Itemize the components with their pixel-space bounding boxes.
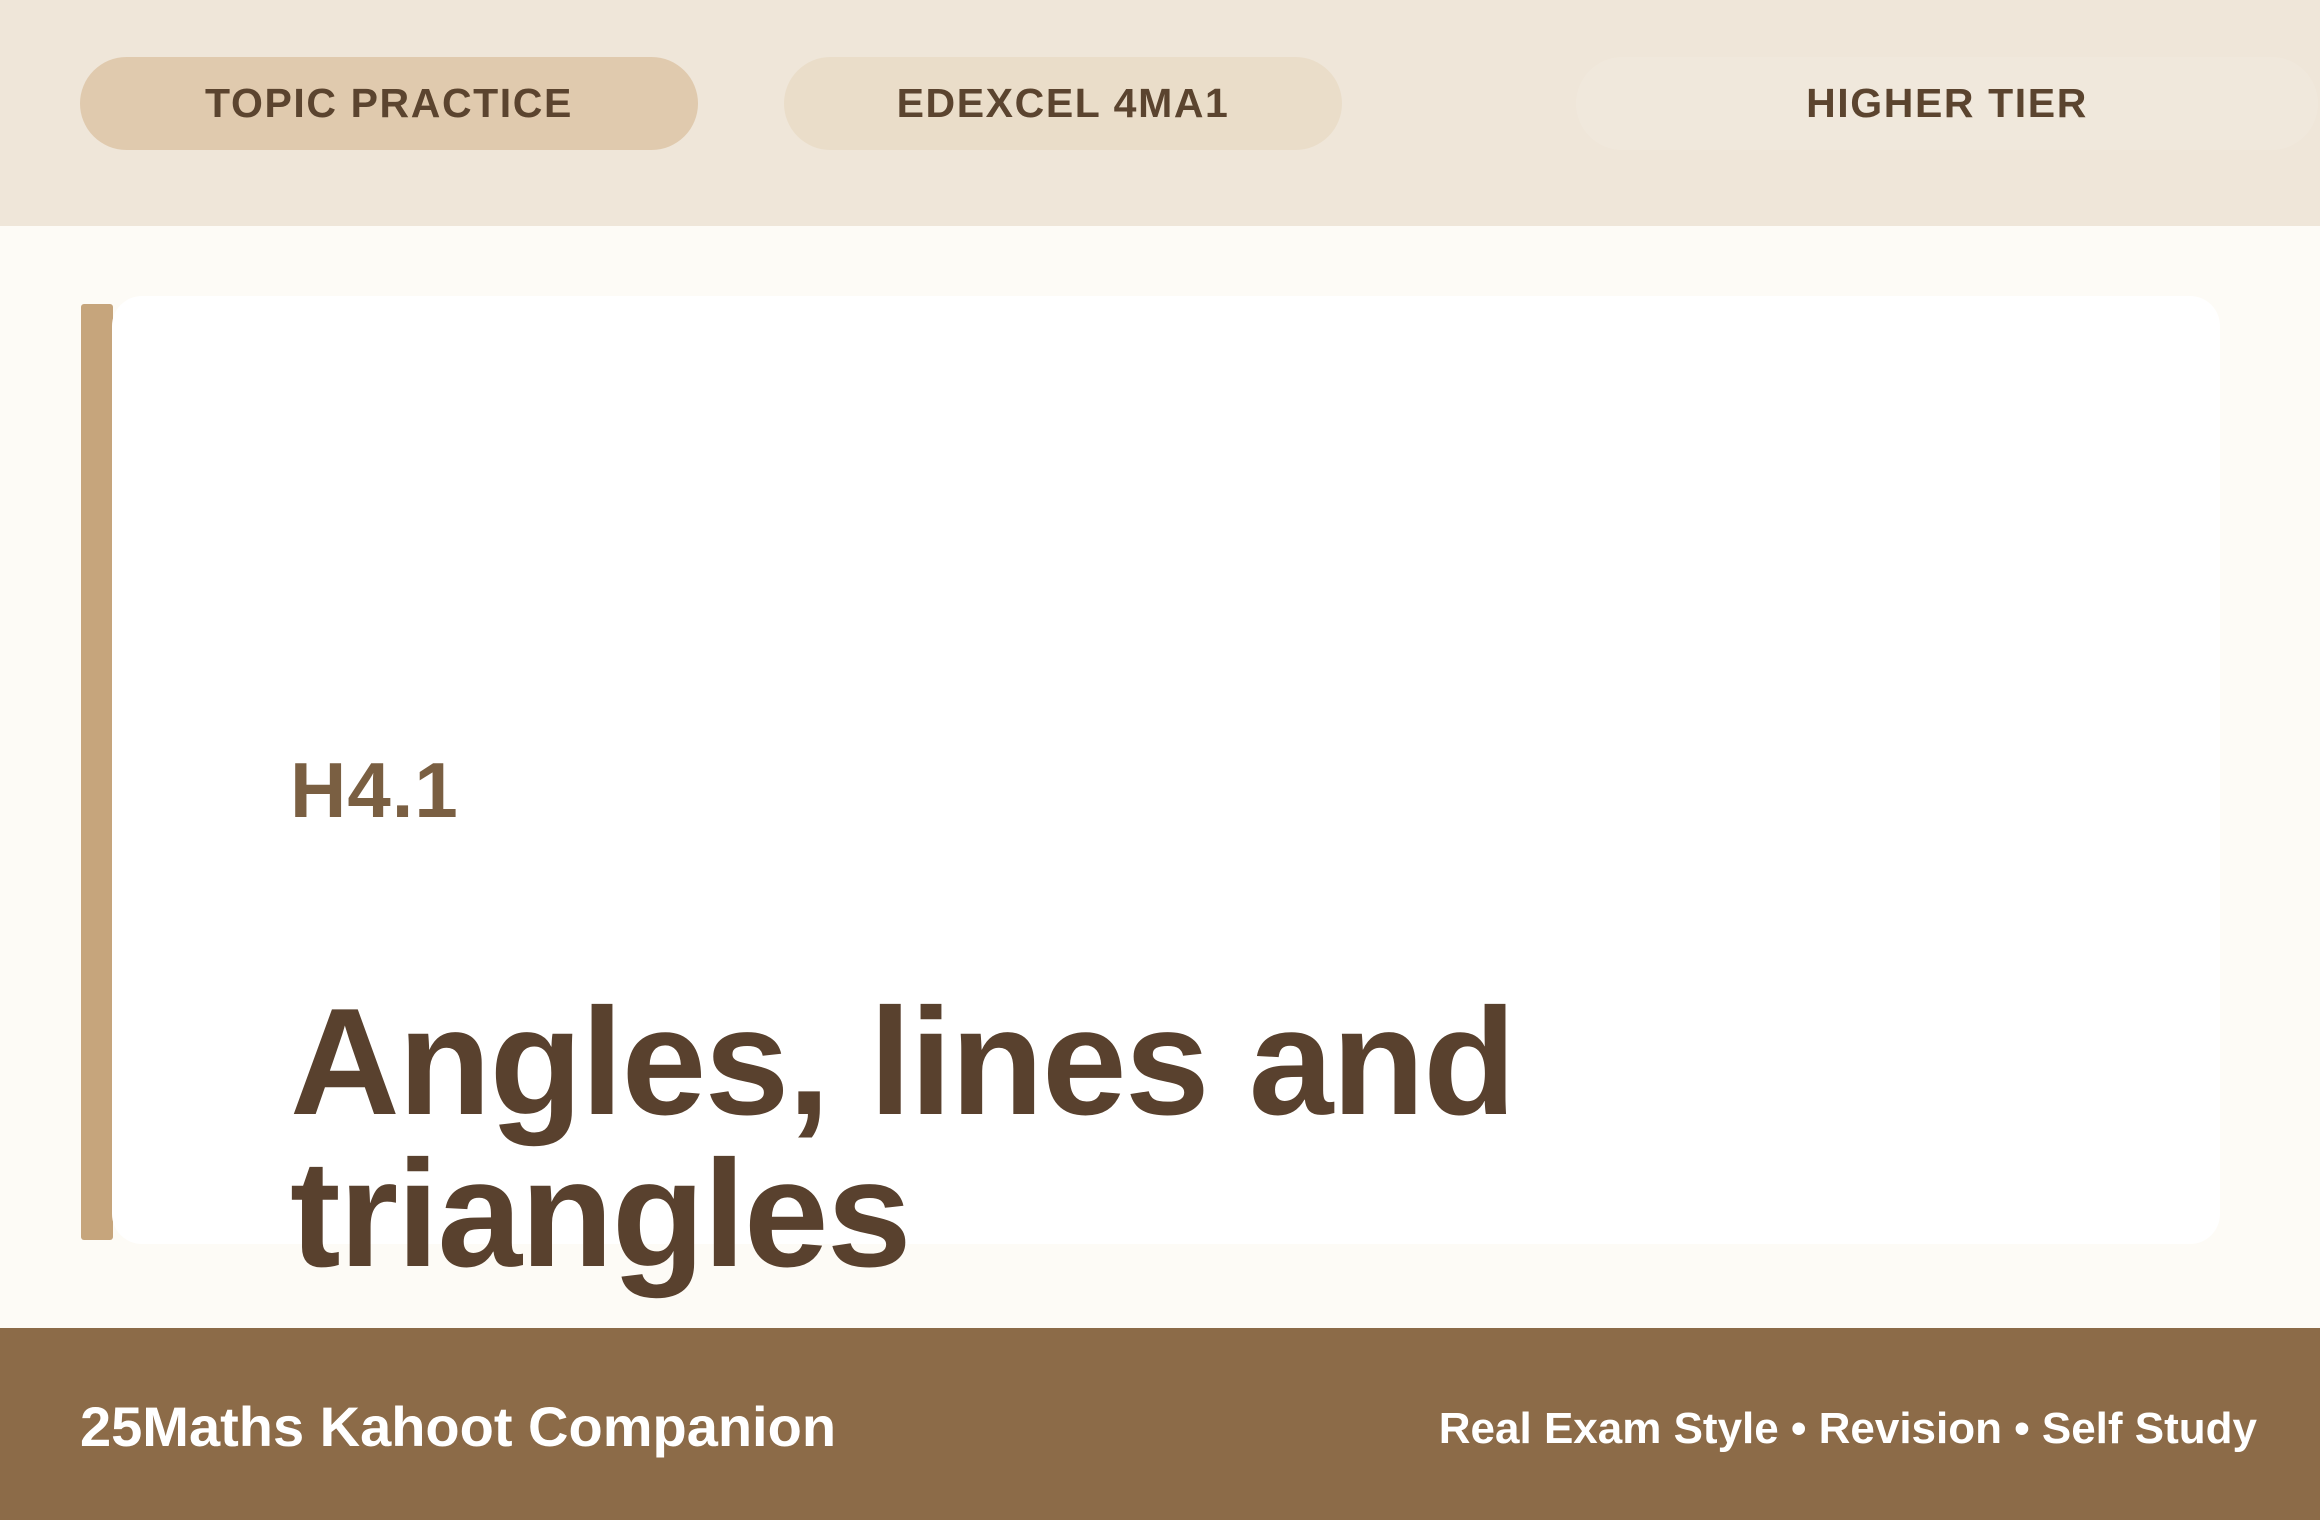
footer-bar: 25Maths Kahoot Companion Real Exam Style… (0, 1328, 2320, 1520)
badge-tier-label: HIGHER TIER (1806, 80, 2088, 127)
header-bar: TOPIC PRACTICE EDEXCEL 4MA1 HIGHER TIER (0, 0, 2320, 226)
footer-brand: 25Maths Kahoot Companion (80, 1394, 836, 1459)
badge-topic-practice-label: TOPIC PRACTICE (205, 80, 573, 127)
title-card: H4.1 Angles, lines and triangles IGCSE M… (112, 296, 2220, 1244)
badge-topic-practice[interactable]: TOPIC PRACTICE (80, 57, 698, 150)
slide-canvas: TOPIC PRACTICE EDEXCEL 4MA1 HIGHER TIER … (0, 0, 2320, 1520)
badge-tier[interactable]: HIGHER TIER (1576, 57, 2318, 150)
page-title: Angles, lines and triangles (290, 986, 1790, 1290)
badge-exam-board[interactable]: EDEXCEL 4MA1 (784, 57, 1342, 150)
badge-exam-board-label: EDEXCEL 4MA1 (897, 80, 1230, 127)
topic-code: H4.1 (290, 751, 459, 829)
footer-tagline: Real Exam Style • Revision • Self Study (1439, 1404, 2257, 1454)
card-accent-bar (81, 304, 113, 1240)
